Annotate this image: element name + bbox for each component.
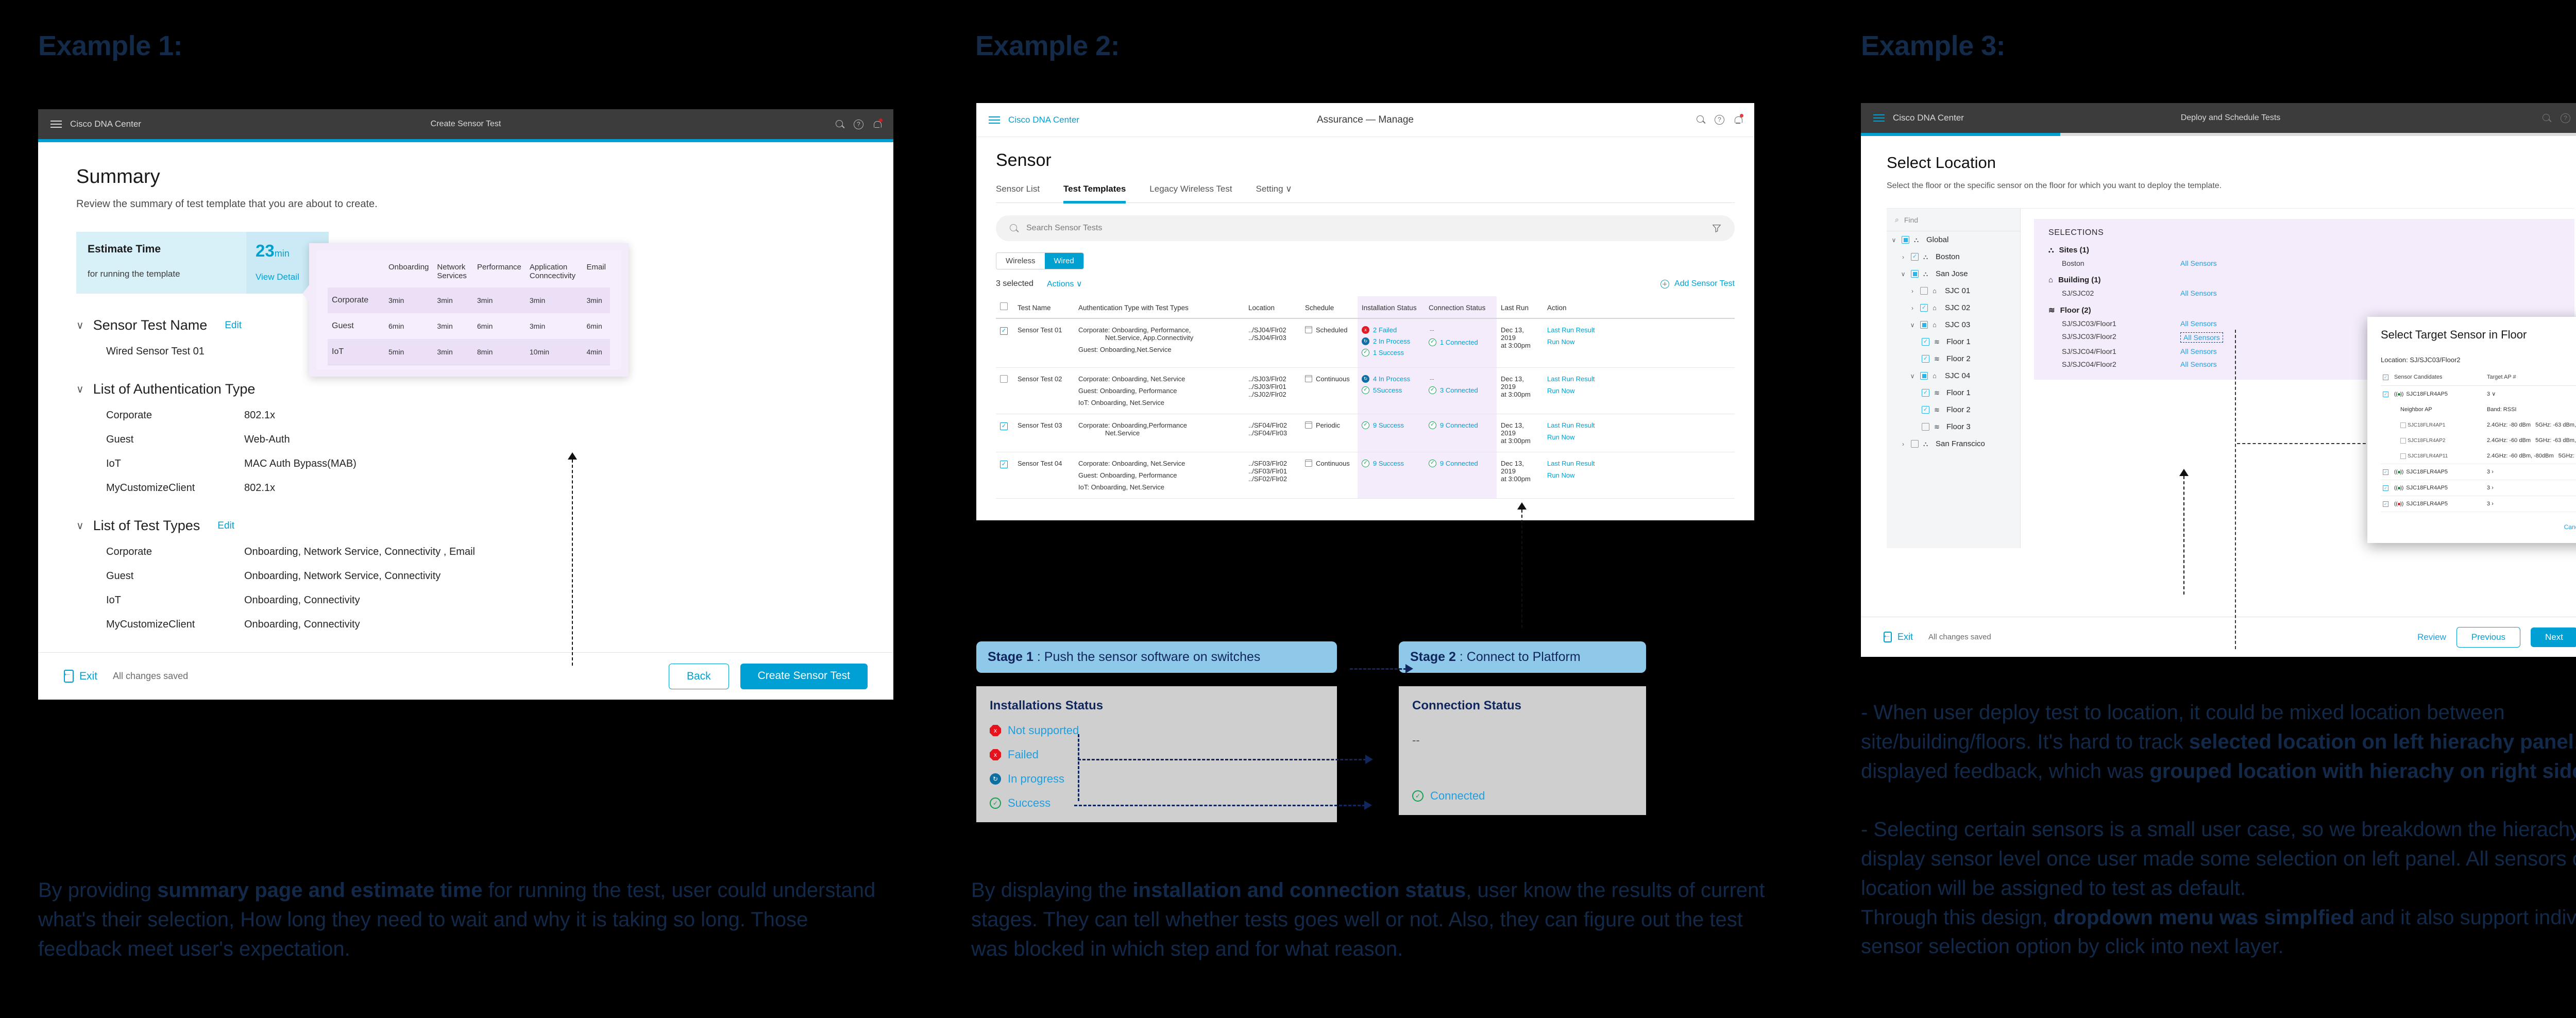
last-run-result-link[interactable]: Last Run Result [1547,421,1731,429]
dialog-title: Select Target Sensor in Floor [2381,328,2576,342]
col-installation-status[interactable]: Installation Status [1358,296,1425,318]
assurance-manage-window: Cisco DNA Center Assurance — Manage Sens… [976,103,1754,520]
back-button[interactable]: Back [669,664,729,689]
chevron-right-icon[interactable]: › [1900,440,1906,448]
tab-setting[interactable]: Setting ∨ [1256,184,1292,202]
page-heading: Summary [76,166,855,188]
run-now-link[interactable]: Run Now [1547,433,1731,441]
last-run-result-link[interactable]: Last Run Result [1547,375,1731,383]
checkbox-checked[interactable]: ✓ [1922,355,1929,363]
example-1-title: Example 1: [38,30,182,62]
all-sensors-link[interactable]: All Sensors [2180,319,2217,328]
example-3-caption: - When user deploy test to location, it … [1861,698,2576,961]
chevron-down-icon[interactable]: ∨ [1909,372,1916,380]
modal-connector-line [2237,443,2366,444]
tree-node-sjc04-floor-1[interactable]: ✓≋Floor 1 [1887,384,2020,401]
all-sensors-link[interactable]: All Sensors [2180,360,2217,368]
estimate-unit: min [275,248,290,259]
help-icon[interactable] [1715,115,1724,125]
selection-row: SJ/SJC02All Sensors [2048,289,2560,297]
checkbox-checked[interactable]: ✓ [1922,338,1929,346]
sites-icon: ⛬ [1923,270,1931,278]
saved-status: All changes saved [1928,633,1991,641]
callout-line [1521,510,1522,628]
stage-connector-line [1350,668,1406,670]
target-ap-count: 3 [2487,469,2490,475]
estimate-label: Estimate Time [88,243,235,256]
previous-button[interactable]: Previous [2456,627,2520,648]
popup-pointer [302,284,310,303]
find-input[interactable]: ⌕ Find [1887,209,2020,231]
building-icon: ⌂ [1933,372,1940,380]
row-value: Onboarding, Connectivity [244,619,360,631]
target-ap-count: 3 [2487,501,2490,507]
connection-status-cell: -- ✓3 Connected [1425,368,1497,414]
tree-node-sjc03-floor-1[interactable]: ✓≋Floor 1 [1887,333,2020,350]
floor-icon: ≋ [1934,355,1942,363]
cell: 3min [433,287,473,313]
status-success: ✓Success [990,796,1324,810]
col-email: Email [582,260,610,287]
col-sensor-candidates: Sensor Candidates [2392,371,2485,386]
checkbox-unchecked[interactable] [1911,440,1919,448]
installation-status-cell: ✓9 Success [1358,452,1425,499]
callout-arrow [1517,502,1527,510]
row-value: 802.1x [244,482,275,494]
neighbor-checkbox[interactable]: ✓ [2400,438,2406,444]
row-checkbox[interactable]: ✓ [1000,461,1008,468]
row-key: IoT [106,595,244,606]
run-now-link[interactable]: Run Now [1547,387,1731,395]
failed-icon: x [990,725,1001,736]
brand-label: Cisco DNA Center [1008,115,1079,125]
in-process-icon: ↻ [990,773,1001,785]
all-sensors-link-highlighted[interactable]: All Sensors [2180,332,2223,343]
failed-icon: x [1362,326,1369,334]
page-title: Deploy and Schedule Tests [2181,113,2281,123]
page-title: Create Sensor Test [431,120,501,129]
in-process-icon: ↻ [1362,337,1369,345]
app-topbar: Cisco DNA Center Deploy and Schedule Tes… [1861,103,2576,133]
wizard-footer: Exit All changes saved Back Create Senso… [38,652,893,700]
edit-link[interactable]: Edit [217,520,234,532]
exit-label: Exit [79,670,97,683]
connected-icon: ✓ [1429,460,1436,467]
cell: 6min [582,313,610,339]
installation-status-cell: ✓9 Success [1358,414,1425,452]
search-icon[interactable] [2542,113,2552,123]
row-key: MyCustomizeClient [106,482,244,494]
example-3-title: Example 3: [1861,30,2005,62]
chevron-right-icon[interactable]: › [1909,287,1916,295]
last-run-cell: Dec 13, 2019 at 3:00pm [1497,452,1543,499]
chevron-right-icon[interactable]: › [1909,304,1916,312]
col-application-connectivity: Application Conncectivity [526,260,583,287]
success-icon: ✓ [1362,386,1369,394]
section-test-types: ∨ List of Test Types Edit CorporateOnboa… [76,518,855,631]
section-authentication-type: ∨ List of Authentication Type Corporate8… [76,381,855,494]
test-name-link[interactable]: Sensor Test 04 [1013,452,1074,499]
wizard-footer: Exit All changes saved Review Previous N… [1861,617,2576,657]
estimate-time-card: Estimate Time for running the template 2… [76,232,329,294]
select-target-sensor-dialog: ✕ Select Target Sensor in Floor ≡ ▥ Loca… [2367,317,2576,543]
col-schedule: Schedule [1301,296,1358,318]
last-run-result-link[interactable]: Last Run Result [1547,326,1731,334]
location-cell: ../SJ04/Flr02 ../SJ04/Flr03 [1244,318,1301,368]
example-2-title: Example 2: [975,30,1120,62]
selection-row: BostonAll Sensors [2048,259,2560,267]
tree-node-sjc04-floor-2[interactable]: ✓≋Floor 2 [1887,401,2020,418]
auth-cell: Corporate: Onboarding, Net.Service Guest… [1074,452,1244,499]
cell: 8min [473,339,526,365]
chevron-down-icon[interactable]: ∨ [1900,270,1906,278]
all-sensors-link[interactable]: All Sensors [2180,347,2217,355]
checkbox-checked[interactable]: ✓ [1911,253,1919,261]
connected-icon: ✓ [1429,386,1436,394]
row-checkbox[interactable]: ✓ [2383,501,2388,507]
page-heading: Select Location [1887,154,2574,172]
all-sensors-link[interactable]: All Sensors [2180,289,2217,297]
status-not-supported: xNot supported [990,724,1324,737]
selections-group-floor: ≋Floor (2) [2048,306,2560,315]
tab-bar: Sensor List Test Templates Legacy Wirele… [996,184,1735,203]
chevron-down-icon[interactable]: ∨ [1909,321,1916,329]
test-name-link[interactable]: Sensor Test 02 [1013,368,1074,414]
success-icon: ✓ [1362,460,1369,467]
row-label: Corporate [328,287,384,313]
cell: 10min [526,339,583,365]
checkbox-checked[interactable]: ✓ [1920,304,1928,312]
run-now-link[interactable]: Run Now [1547,338,1731,346]
sensor-tests-table: Test Name Authentication Type with Test … [996,296,1735,499]
checkbox-partial[interactable] [1920,321,1928,329]
cell: 5min [384,339,433,365]
add-sensor-test-label: Add Sensor Test [1674,279,1735,289]
search-icon[interactable] [835,120,845,129]
last-run-result-link[interactable]: Last Run Result [1547,460,1731,467]
chevron-down-icon[interactable]: ∨ [2492,391,2496,397]
row-key: Guest [106,434,244,446]
connection-status-cell: -- ✓1 Connected [1425,318,1497,368]
action-cell: Last Run Result Run Now [1543,452,1735,499]
table-header-row: ✓ Sensor Candidates Target AP # [2381,371,2576,386]
stage-2-desc: : Connect to Platform [1456,650,1581,664]
estimate-note: for running the template [88,269,235,279]
schedule-cell: Periodic [1301,414,1358,452]
col-connection-status[interactable]: Connection Status [1425,296,1497,318]
search-icon: ⌕ [1895,215,1899,224]
example-2-caption: By displaying the installation and conne… [971,876,1775,963]
dialog-location: Location: SJ/SJC03/Floor2 [2381,356,2576,364]
cell: 3min [473,287,526,313]
tree-node-san-jose[interactable]: ∨⛬San Jose [1887,265,2020,282]
section-title: Sensor Test Name [93,317,208,333]
location-cell: ../SF03/Flr02 ../SF03/Flr01 ../SF02/Flr0… [1244,452,1301,499]
cell: 3min [433,313,473,339]
row-checkbox[interactable]: ✓ [2383,469,2388,475]
action-cell: Last Run Result Run Now [1543,414,1735,452]
menu-icon[interactable] [50,118,62,130]
chevron-down-icon[interactable]: ∨ [76,319,84,332]
row-value: MAC Auth Bypass(MAB) [244,458,357,470]
neighbor-checkbox[interactable]: ✓ [2400,422,2406,428]
app-topbar: Cisco DNA Center Create Sensor Test [38,109,893,139]
status-connected: ✓Connected [1412,789,1633,803]
tab-legacy-wireless-test[interactable]: Legacy Wireless Test [1149,184,1232,202]
estimate-detail-popup: Onboarding Network Services Performance … [309,243,629,377]
chevron-right-icon[interactable]: › [2492,501,2494,507]
next-button[interactable]: Next [2531,627,2576,647]
sensor-type-segmented-control[interactable]: Wireless Wired [996,252,1084,269]
neighbor-row: ✓ SJC18FLR4AP2 2.4GHz: -60 dBm 5GHz: -63… [2381,433,2576,448]
tree-node-sjc03-floor-2[interactable]: ✓≋Floor 2 [1887,350,2020,367]
row-key: MyCustomizeClient [106,619,244,631]
row-checkbox[interactable]: ✓ [2383,392,2388,397]
row-checkbox[interactable]: ✓ [1000,327,1008,335]
table-row: IoT 5min 3min 8min 10min 4min [328,339,610,365]
row-value: Onboarding, Network Service, Connectivit… [244,546,475,558]
floor-icon: ≋ [1934,406,1942,414]
callout-arrow [2179,469,2189,476]
brand-label: Cisco DNA Center [1893,113,1964,123]
checkbox-checked[interactable]: ✓ [1922,406,1929,414]
exit-arrow-icon [64,670,74,683]
target-ap-count: 3 [2487,485,2490,491]
checkbox-partial[interactable] [1902,236,1909,244]
stage-1-group: Stage 1 : Push the sensor software on sw… [976,641,1337,822]
cell: 4min [582,339,610,365]
checkbox-unchecked[interactable] [1922,423,1929,431]
all-sensors-link[interactable]: All Sensors [2180,259,2217,267]
connection-status-cell: ✓9 Connected [1425,414,1497,452]
bell-icon[interactable] [872,120,882,129]
floor-icon: ≋ [1934,389,1942,397]
search-icon [1009,224,1019,233]
edit-link[interactable]: Edit [225,320,242,331]
chevron-right-icon[interactable]: › [1900,253,1906,261]
success-icon: ✓ [1362,421,1369,429]
sensor-name: SJC18FLR4AP5 [2406,391,2448,397]
row-key: Guest [106,570,244,582]
location-hierarchy-tree: ⌕ Find ∨⛬Global ›✓⛬Boston ∨⛬San Jose ›⌂S… [1887,209,2021,548]
exit-arrow-icon [1884,632,1892,642]
chevron-down-icon[interactable]: ∨ [76,519,84,532]
add-sensor-test-button[interactable]: Add Sensor Test [1660,279,1735,289]
connection-status-title: Connection Status [1412,699,1633,713]
row-key: Corporate [106,410,244,421]
connected-icon: ✓ [1412,790,1423,802]
building-icon: ⌂ [1933,304,1940,312]
help-icon[interactable] [854,120,863,129]
table-row: ✓ (())SJC18FLR4AP5 3 ∨ [2381,386,2576,402]
help-icon[interactable] [2561,113,2570,123]
status-none: -- [1412,734,1633,747]
tree-node-sjc04-floor-3[interactable]: ≋Floor 3 [1887,418,2020,435]
target-ap-count: 3 [2487,391,2490,397]
row-key: Corporate [106,546,244,558]
tree-node-boston[interactable]: ›✓⛬Boston [1887,248,2020,265]
col-target-ap: Target AP # [2485,371,2576,386]
stage-2-label: Stage 2 [1410,650,1456,664]
list-item: MyCustomizeClientOnboarding, Connectivit… [76,619,855,631]
auth-cell: Corporate: Onboarding, Net.Service Guest… [1074,368,1244,414]
row-checkbox[interactable]: ✓ [2383,485,2388,491]
page-subheading: Select the floor or the specific sensor … [1887,181,2574,191]
table-row: ✓ (())SJC18FLR4AP5 3 › [2381,464,2576,480]
table-row: Sensor Test 02 Corporate: Onboarding, Ne… [996,368,1735,414]
tree-node-san-francisco[interactable]: ›⛬San Franscico [1887,435,2020,452]
building-icon: ⌂ [1933,321,1940,329]
tab-test-templates[interactable]: Test Templates [1063,184,1126,202]
list-item: CorporateOnboarding, Network Service, Co… [76,546,855,558]
bell-icon[interactable] [1733,115,1743,125]
signal-icon: (()) [2394,485,2403,491]
exit-button[interactable]: Exit [64,670,97,683]
success-connector-line [1074,805,1365,806]
installation-status-cell: ↻4 In Process ✓5Success [1358,368,1425,414]
selections-title: SELECTIONS [2048,228,2560,237]
col-onboarding: Onboarding [384,260,433,287]
signal-icon: (()) [2394,392,2403,397]
list-item: MyCustomizeClient802.1x [76,482,855,494]
section-title: List of Test Types [93,518,200,534]
checkbox-unchecked[interactable] [1920,287,1928,295]
neighbor-row: ✓ SJC18FLR4AP1 2.4GHz: -80 dBm 5GHz: -63… [2381,417,2576,433]
select-all-checkbox[interactable]: ✓ [2383,375,2388,380]
stage-2-body: Connection Status -- ✓Connected [1399,686,1646,815]
value-text: Wired Sensor Test 01 [106,346,244,358]
cell: 3min [384,287,433,313]
list-item: GuestWeb-Auth [76,434,855,446]
table-action-row: 3 selected Actions ∨ Add Sensor Test [996,279,1735,289]
find-placeholder: Find [1904,216,1918,224]
checkbox-partial[interactable] [1911,270,1919,278]
table-header-row: Test Name Authentication Type with Test … [996,296,1735,318]
selections-group-sites: ⛬Sites (1) [2048,246,2560,254]
floor-icon: ≋ [1934,423,1942,431]
actions-dropdown[interactable]: Actions ∨ [1047,279,1082,289]
calendar-icon [1305,460,1312,467]
callout-line [2183,476,2184,595]
cell: 6min [384,313,433,339]
tree-node-sjc-01[interactable]: ›⌂SJC 01 [1887,282,2020,299]
search-icon[interactable] [1696,115,1706,125]
chevron-down-icon[interactable]: ∨ [76,383,84,396]
location-cell: ../SF04/Flr02 ../SF04/Flr03 [1244,414,1301,452]
review-link[interactable]: Review [2417,632,2446,642]
notification-dot [879,118,883,122]
create-sensor-test-button[interactable]: Create Sensor Test [740,664,868,689]
table-row: ✓ Sensor Test 04 Corporate: Onboarding, … [996,452,1735,499]
table-row: ✓ (())SJC18FLR4AP5 3 › [2381,480,2576,496]
list-item: IoTMAC Auth Bypass(MAB) [76,458,855,470]
table-row: ✓ Sensor Test 03 Corporate: Onboarding,P… [996,414,1735,452]
action-cell: Last Run Result Run Now [1543,368,1735,414]
segment-wireless[interactable]: Wireless [996,253,1045,269]
table-header-row: Onboarding Network Services Performance … [328,260,610,287]
auth-cell: Corporate: Onboarding, Performance, Net.… [1074,318,1244,368]
checkbox-checked[interactable]: ✓ [1922,389,1929,397]
col-network-services: Network Services [433,260,473,287]
tree-node-sjc-03[interactable]: ∨⌂SJC 03 [1887,316,2020,333]
chevron-right-icon[interactable]: › [2492,485,2494,491]
neighbor-header-row: Neighbor AP Band: RSSI [2381,402,2576,417]
run-now-link[interactable]: Run Now [1547,471,1731,479]
table-row: ✓ (())SJC18FLR4AP5 3 › [2381,496,2576,512]
table-row: Corporate 3min 3min 3min 3min 3min [328,287,610,313]
app-topbar: Cisco DNA Center Assurance — Manage [976,103,1754,137]
floor-icon: ≋ [2048,306,2055,315]
neighbor-checkbox[interactable]: ✓ [2400,453,2406,459]
in-process-icon: ↻ [1362,375,1369,383]
chevron-down-icon[interactable]: ∨ [1891,236,1897,244]
col-action: Action [1543,296,1735,318]
list-item: GuestOnboarding, Network Service, Connec… [76,570,855,582]
connection-status-cell: ✓9 Connected [1425,452,1497,499]
tree-node-sjc-02[interactable]: ›✓⌂SJC 02 [1887,299,2020,316]
cell: 3min [526,287,583,313]
stage-1-header: Stage 1 : Push the sensor software on sw… [976,641,1337,673]
page-heading: Sensor [996,150,1735,171]
brand-label: Cisco DNA Center [70,119,141,129]
row-key: IoT [106,458,244,470]
col-test-name: Test Name [1013,296,1074,318]
cell: 6min [473,313,526,339]
callout-arrow [568,452,577,460]
row-checkbox[interactable]: ✓ [1000,422,1008,430]
row-checkbox[interactable] [1000,375,1008,383]
cell: 3min [526,313,583,339]
installations-status-title: Installations Status [990,699,1324,713]
floor-icon: ≋ [1934,338,1942,346]
checkbox-partial[interactable] [1920,372,1928,380]
chevron-right-icon[interactable]: › [2492,469,2494,475]
tab-sensor-list[interactable]: Sensor List [996,184,1040,202]
notification-dot [1740,114,1743,117]
segment-wired[interactable]: Wired [1045,253,1083,269]
cell: 3min [582,287,610,313]
test-name-link[interactable]: Sensor Test 03 [1013,414,1074,452]
page-title: Assurance — Manage [1317,114,1414,126]
exit-button[interactable]: Exit [1884,632,1913,642]
auth-cell: Corporate: Onboarding,Performance Net.Se… [1074,414,1244,452]
building-icon: ⌂ [1933,287,1940,295]
schedule-cell: Continuous [1301,452,1358,499]
success-icon: ✓ [990,798,1001,809]
menu-icon[interactable] [1873,112,1885,124]
test-name-link[interactable]: Sensor Test 01 [1013,318,1074,368]
schedule-cell: Continuous [1301,368,1358,414]
tree-node-global[interactable]: ∨⛬Global [1887,231,2020,248]
row-label: Guest [328,313,384,339]
list-item: Corporate802.1x [76,410,855,421]
action-cell: Last Run Result Run Now [1543,318,1735,368]
search-placeholder: Search Sensor Tests [1026,224,1102,233]
sensor-candidates-table: ✓ Sensor Candidates Target AP # ✓ (())SJ… [2381,371,2576,512]
filter-icon[interactable] [1712,224,1721,233]
search-input[interactable]: Search Sensor Tests [996,215,1735,241]
tree-node-sjc-04[interactable]: ∨⌂SJC 04 [1887,367,2020,384]
stage-connector-arrow [1405,664,1413,673]
status-connector-line [1078,759,1366,760]
create-sensor-test-window: Cisco DNA Center Create Sensor Test Summ… [38,109,893,700]
building-icon: ⌂ [2048,276,2053,284]
col-performance: Performance [473,260,526,287]
callout-line [2235,330,2236,649]
select-all-checkbox[interactable] [1000,302,1008,310]
cancel-button[interactable]: Cancel [2564,523,2576,531]
menu-icon[interactable] [989,114,1000,126]
